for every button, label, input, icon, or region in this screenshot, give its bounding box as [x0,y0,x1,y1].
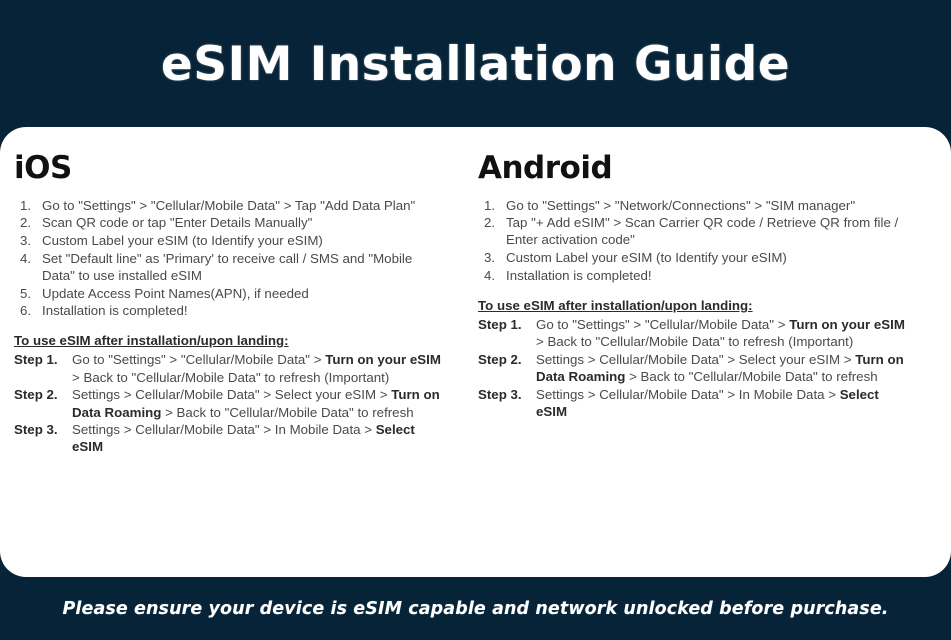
usage-step-label: Step 1. [478,316,534,333]
usage-step-part1: Go to "Settings" > "Cellular/Mobile Data… [536,317,789,332]
list-text: Go to "Settings" > "Cellular/Mobile Data… [42,198,415,213]
usage-step-row: Step 1.Go to "Settings" > "Cellular/Mobi… [478,316,911,350]
header-band: eSIM Installation Guide [0,0,951,128]
list-number: 2. [20,214,40,231]
usage-step-part1: Settings > Cellular/Mobile Data" > In Mo… [72,422,376,437]
usage-step-label: Step 3. [14,421,70,438]
usage-step-row: Step 3.Settings > Cellular/Mobile Data" … [14,421,448,455]
list-item: 3. Custom Label your eSIM (to Identify y… [14,232,448,249]
list-text: Update Access Point Names(APN), if neede… [42,286,309,301]
usage-step-part1: Settings > Cellular/Mobile Data" > Selec… [72,387,391,402]
instructions-card: iOS 1. Go to "Settings" > "Cellular/Mobi… [0,127,951,577]
platform-columns: iOS 1. Go to "Settings" > "Cellular/Mobi… [0,127,951,577]
list-item: 3. Custom Label your eSIM (to Identify y… [478,249,911,266]
ios-heading: iOS [14,152,448,185]
list-text: Set "Default line" as 'Primary' to recei… [42,251,412,283]
ios-usage-heading: To use eSIM after installation/upon land… [14,332,448,350]
usage-step-part1: Settings > Cellular/Mobile Data" > In Mo… [536,387,840,402]
list-item: 6. Installation is completed! [14,302,448,319]
list-number: 3. [484,249,504,266]
usage-step-part1: Go to "Settings" > "Cellular/Mobile Data… [72,352,325,367]
usage-step-part2: > Back to "Cellular/Mobile Data" to refr… [536,334,853,349]
usage-step-part1: Settings > Cellular/Mobile Data" > Selec… [536,352,855,367]
list-item: 1. Go to "Settings" > "Cellular/Mobile D… [14,197,448,214]
list-number: 2. [484,214,504,231]
usage-step-part2: > Back to "Cellular/Mobile Data" to refr… [72,370,389,385]
list-item: 2. Scan QR code or tap "Enter Details Ma… [14,214,448,231]
usage-step-emphasis: Turn on your eSIM [325,352,441,367]
usage-step-emphasis: Turn on your eSIM [789,317,905,332]
list-text: Installation is completed! [42,303,188,318]
list-number: 1. [20,197,40,214]
list-number: 3. [20,232,40,249]
android-heading: Android [478,152,911,185]
usage-step-label: Step 3. [478,386,534,403]
usage-step-label: Step 2. [14,386,70,403]
list-text: Go to "Settings" > "Network/Connections"… [506,198,855,213]
android-column: Android 1. Go to "Settings" > "Network/C… [470,127,951,577]
android-usage-heading: To use eSIM after installation/upon land… [478,297,911,315]
list-number: 4. [484,267,504,284]
usage-step-label: Step 2. [478,351,534,368]
list-item: 4. Set "Default line" as 'Primary' to re… [14,250,448,284]
usage-step-part2: > Back to "Cellular/Mobile Data" to refr… [161,405,413,420]
usage-step-row: Step 3.Settings > Cellular/Mobile Data" … [478,386,911,420]
page-title: eSIM Installation Guide [161,37,790,92]
ios-column: iOS 1. Go to "Settings" > "Cellular/Mobi… [0,127,470,577]
usage-step-row: Step 1.Go to "Settings" > "Cellular/Mobi… [14,351,448,385]
ios-step-list: 1. Go to "Settings" > "Cellular/Mobile D… [14,197,448,320]
android-usage-block: To use eSIM after installation/upon land… [478,297,911,420]
list-text: Tap "+ Add eSIM" > Scan Carrier QR code … [506,215,898,247]
footer-band: Please ensure your device is eSIM capabl… [0,578,951,640]
list-text: Custom Label your eSIM (to Identify your… [506,250,787,265]
list-item: 4. Installation is completed! [478,267,911,284]
ios-usage-block: To use eSIM after installation/upon land… [14,332,448,455]
usage-step-row: Step 2.Settings > Cellular/Mobile Data" … [478,351,911,385]
list-item: 5. Update Access Point Names(APN), if ne… [14,285,448,302]
list-text: Scan QR code or tap "Enter Details Manua… [42,215,312,230]
list-text: Custom Label your eSIM (to Identify your… [42,233,323,248]
list-number: 1. [484,197,504,214]
usage-step-row: Step 2.Settings > Cellular/Mobile Data" … [14,386,448,420]
footer-notice: Please ensure your device is eSIM capabl… [62,599,888,619]
list-text: Installation is completed! [506,268,652,283]
list-number: 5. [20,285,40,302]
list-number: 6. [20,302,40,319]
list-item: 1. Go to "Settings" > "Network/Connectio… [478,197,911,214]
list-item: 2. Tap "+ Add eSIM" > Scan Carrier QR co… [478,214,911,248]
usage-step-label: Step 1. [14,351,70,368]
android-step-list: 1. Go to "Settings" > "Network/Connectio… [478,197,911,285]
list-number: 4. [20,250,40,267]
usage-step-part2: > Back to "Cellular/Mobile Data" to refr… [625,369,877,384]
